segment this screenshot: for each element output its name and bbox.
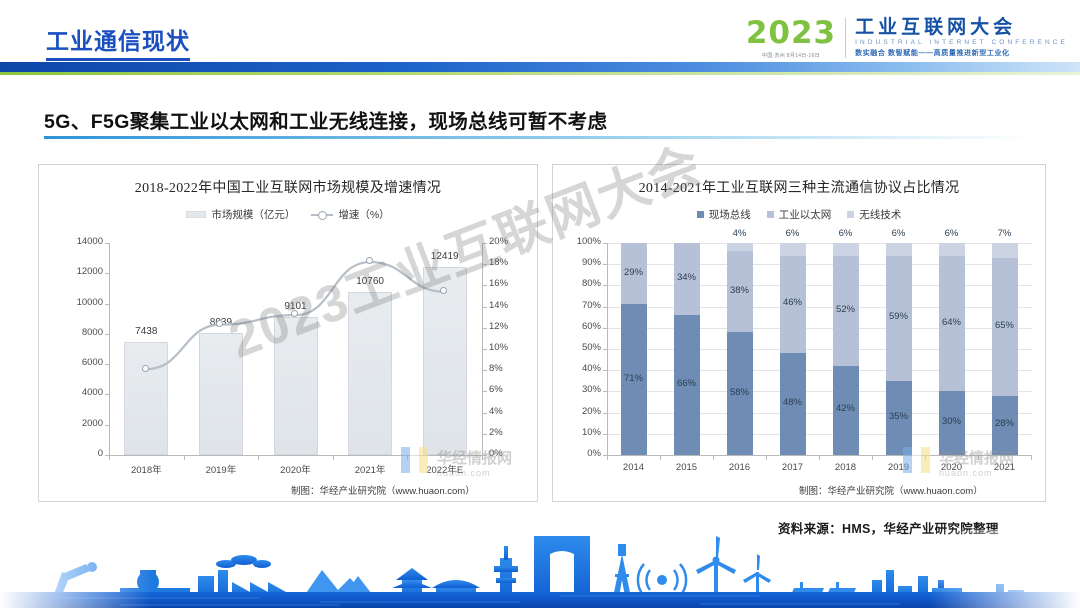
x-tickmark-0 [607,456,608,460]
y-tick-right-4: 8% [489,363,529,374]
y-tickmark-right-5 [483,349,487,350]
chart-card-market-size: 2018-2022年中国工业互联网市场规模及增速情况 市场规模（亿元） 增速（%… [38,164,538,502]
x-tickmark-1 [660,456,661,460]
y-tick-right-8: 16% [489,278,529,289]
y-tick-right-2: 4% [489,406,529,417]
x-axis [109,455,483,456]
y-tickmark-7 [603,307,607,308]
y-tickmark-right-4 [483,370,487,371]
logo-name-block: 工业互联网大会 INDUSTRIAL INTERNET CONFERENCE 数… [855,18,1068,59]
x-tick-2015: 2015 [661,462,713,473]
y-tick-right-9: 18% [489,257,529,268]
y-tick-1: 10% [557,427,601,438]
y-tick-left-1: 2000 [55,418,103,429]
y-tickmark-8 [603,285,607,286]
bar-2021年 [348,292,392,455]
y-tickmark-6 [603,328,607,329]
y-tick-right-1: 2% [489,427,529,438]
y-tick-left-0: 0 [55,448,103,459]
y-tickmark-10 [603,243,607,244]
segment-label-2014-现场总线: 71% [608,373,660,384]
logo-slogan: 数实融合 数智赋能——高质量推进新型工业化 [855,48,1068,58]
x-tick-2019年: 2019年 [187,462,255,476]
y-tick-left-4: 8000 [55,327,103,338]
gridline-1 [608,434,1032,435]
y-tickmark-right-7 [483,307,487,308]
y-tick-6: 60% [557,321,601,332]
y-tickmark-2 [603,413,607,414]
y-tick-right-6: 12% [489,321,529,332]
gridline-10 [608,243,1032,244]
x-tickmark-0 [109,456,110,460]
y-tickmark-left-7 [105,243,109,244]
line-point-2018年 [142,365,149,372]
header-rule-green [0,72,1080,75]
bar-2019年 [199,333,243,455]
logo-year-block: 2023 中国·苏州 8月14日-16日 [746,18,845,59]
y-tickmark-5 [603,349,607,350]
y-tickmark-right-6 [483,328,487,329]
bar-value-2018年: 7438 [114,326,178,337]
y-tickmark-right-2 [483,413,487,414]
x-tickmark-end [482,456,483,460]
segment-label-2016-现场总线: 58% [714,387,766,398]
plot-area-protocol-share: 0%10%20%30%40%50%60%70%80%90%100%71%29%2… [553,165,1046,502]
edge-fade [0,530,1080,608]
y-tick-left-7: 14000 [55,236,103,247]
slide: 工业通信现状 2023 中国·苏州 8月14日-16日 工业互联网大会 INDU… [0,0,1080,608]
x-tickmark-3 [333,456,334,460]
y-tick-left-3: 6000 [55,357,103,368]
headline-rule [44,136,1032,139]
y-tickmark-left-5 [105,304,109,305]
y-tickmark-left-4 [105,334,109,335]
bar-2022年E [423,267,467,455]
headline: 5G、F5G聚集工业以太网和工业无线连接，现场总线可暂不考虑 [44,105,607,134]
x-tick-2016: 2016 [714,462,766,473]
x-tick-2020: 2020 [926,462,978,473]
x-tickmark-7 [978,456,979,460]
y-tick-right-10: 20% [489,236,529,247]
y-tickmark-right-3 [483,391,487,392]
logo-name-cn: 工业互联网大会 [855,18,1068,39]
y-tickmark-1 [603,434,607,435]
x-tickmark-6 [925,456,926,460]
logo-name-en: INDUSTRIAL INTERNET CONFERENCE [855,39,1068,46]
gridline-6 [608,328,1032,329]
y-tickmark-left-6 [105,273,109,274]
y-tickmark-3 [603,391,607,392]
segment-2018-无线技术 [833,243,859,256]
footer-skyline-band [0,530,1080,608]
segment-label-2021-工业以太网: 65% [979,320,1031,331]
y-tick-right-3: 6% [489,384,529,395]
gridline-8 [608,285,1032,286]
skyline-illustration [0,530,1080,608]
x-tickmark-end [1031,456,1032,460]
plot-area-market-size: 020004000600080001000012000140000%2%4%6%… [39,165,538,502]
x-tick-2017: 2017 [767,462,819,473]
y-tickmark-right-1 [483,434,487,435]
segment-2016-无线技术 [727,243,753,251]
segment-2021-无线技术 [992,243,1018,258]
segment-label-2018-现场总线: 42% [820,403,872,414]
line-point-2021年 [366,257,373,264]
segment-label-2017-工业以太网: 46% [767,297,819,308]
y-tickmark-right-0 [483,455,487,456]
y-axis-left [109,243,110,456]
segment-label-2021-现场总线: 28% [979,418,1031,429]
x-tickmark-5 [872,456,873,460]
page-title: 工业通信现状 [46,22,190,61]
x-tick-2021: 2021 [979,462,1031,473]
segment-label-2016-无线技术: 4% [714,228,766,239]
x-tickmark-2 [713,456,714,460]
y-tick-right-5: 10% [489,342,529,353]
logo-date: 中国·苏州 8月14日-16日 [762,52,820,59]
x-tickmark-4 [819,456,820,460]
x-tickmark-3 [766,456,767,460]
bar-value-2021年: 10760 [338,276,402,287]
segment-label-2020-现场总线: 30% [926,416,978,427]
segment-label-2017-现场总线: 48% [767,397,819,408]
segment-label-2014-工业以太网: 29% [608,267,660,278]
y-tick-9: 90% [557,257,601,268]
x-tick-2020年: 2020年 [262,462,330,476]
logo-year: 2023 [746,18,836,49]
y-tick-5: 50% [557,342,601,353]
y-tick-left-2: 4000 [55,387,103,398]
x-tickmark-1 [184,456,185,460]
y-tick-0: 0% [557,448,601,459]
chart-credit-market-size: 制图：华经产业研究院（www.huaon.com） [291,483,475,497]
y-tickmark-right-10 [483,243,487,244]
segment-label-2015-工业以太网: 34% [661,272,713,283]
segment-label-2020-无线技术: 6% [926,228,978,239]
y-tick-right-0: 0% [489,448,529,459]
y-tickmark-left-2 [105,394,109,395]
gridline-5 [608,349,1032,350]
x-tick-2018年: 2018年 [112,462,180,476]
y-tick-8: 80% [557,278,601,289]
y-tick-left-5: 10000 [55,297,103,308]
y-tick-3: 30% [557,384,601,395]
segment-label-2018-工业以太网: 52% [820,304,872,315]
logo-divider [845,18,846,58]
gridline-4 [608,370,1032,371]
bar-2020年 [274,317,318,455]
y-tick-4: 40% [557,363,601,374]
segment-label-2018-无线技术: 6% [820,228,872,239]
conference-logo: 2023 中国·苏州 8月14日-16日 工业互联网大会 INDUSTRIAL … [746,12,1068,64]
segment-2017-无线技术 [780,243,806,256]
y-tickmark-right-8 [483,285,487,286]
x-tick-2022年E: 2022年E [411,462,479,476]
segment-label-2019-现场总线: 35% [873,411,925,422]
segment-label-2015-现场总线: 66% [661,378,713,389]
chart-credit-protocol-share: 制图：华经产业研究院（www.huaon.com） [799,483,983,497]
y-tickmark-4 [603,370,607,371]
y-tickmark-right-9 [483,264,487,265]
segment-label-2019-无线技术: 6% [873,228,925,239]
segment-label-2016-工业以太网: 38% [714,285,766,296]
y-tickmark-left-1 [105,425,109,426]
x-tickmark-4 [407,456,408,460]
segment-2020-无线技术 [939,243,965,256]
y-tick-right-7: 14% [489,300,529,311]
bar-value-2022年E: 12419 [413,251,477,262]
x-tick-2019: 2019 [873,462,925,473]
y-tick-10: 100% [557,236,601,247]
segment-2019-无线技术 [886,243,912,256]
segment-label-2017-无线技术: 6% [767,228,819,239]
segment-label-2020-工业以太网: 64% [926,317,978,328]
y-tick-left-6: 12000 [55,266,103,277]
y-tickmark-left-3 [105,364,109,365]
y-tick-7: 70% [557,300,601,311]
segment-label-2019-工业以太网: 59% [873,311,925,322]
bar-2018年 [124,342,168,455]
gridline-3 [608,391,1032,392]
y-tick-2: 20% [557,406,601,417]
x-tickmark-2 [258,456,259,460]
chart-card-protocol-share: 2014-2021年工业互联网三种主流通信协议占比情况 现场总线 工业以太网 无… [552,164,1046,502]
x-tick-2021年: 2021年 [336,462,404,476]
x-tick-2018: 2018 [820,462,872,473]
segment-label-2021-无线技术: 7% [979,228,1031,239]
gridline-9 [608,264,1032,265]
x-tick-2014: 2014 [608,462,660,473]
y-tickmark-9 [603,264,607,265]
